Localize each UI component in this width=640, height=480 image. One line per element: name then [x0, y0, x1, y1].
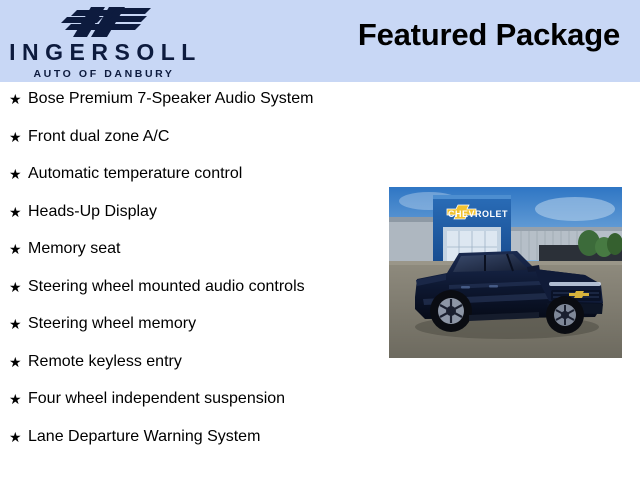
dealer-logo: INGERSOLL AUTO OF DANBURY	[0, 4, 205, 80]
svg-text:CHEVROLET: CHEVROLET	[448, 209, 508, 219]
star-bullet-icon: ★	[9, 126, 28, 148]
star-bullet-icon: ★	[9, 426, 28, 448]
vehicle-photo-image: CHEVROLET	[389, 187, 622, 358]
list-item: ★ Automatic temperature control	[9, 163, 379, 185]
star-bullet-icon: ★	[9, 88, 28, 110]
list-item: ★ Bose Premium 7-Speaker Audio System	[9, 88, 379, 110]
list-item: ★ Front dual zone A/C	[9, 126, 379, 148]
star-bullet-icon: ★	[9, 238, 28, 260]
dealer-name: INGERSOLL	[3, 41, 202, 64]
feature-label: Remote keyless entry	[28, 351, 182, 373]
list-item: ★ Lane Departure Warning System	[9, 426, 379, 448]
star-bullet-icon: ★	[9, 388, 28, 410]
feature-label: Steering wheel mounted audio controls	[28, 276, 305, 298]
star-bullet-icon: ★	[9, 201, 28, 223]
feature-label: Automatic temperature control	[28, 163, 242, 185]
feature-list: ★ Bose Premium 7-Speaker Audio System ★ …	[9, 88, 379, 463]
feature-label: Front dual zone A/C	[28, 126, 169, 148]
feature-label: Steering wheel memory	[28, 313, 196, 335]
ingersoll-wing-emblem-icon	[47, 4, 159, 40]
feature-label: Memory seat	[28, 238, 120, 260]
feature-label: Four wheel independent suspension	[28, 388, 285, 410]
star-bullet-icon: ★	[9, 276, 28, 298]
star-bullet-icon: ★	[9, 163, 28, 185]
star-bullet-icon: ★	[9, 313, 28, 335]
vehicle-photo: CHEVROLET	[389, 187, 622, 358]
page-title: Featured Package	[358, 17, 620, 53]
list-item: ★ Steering wheel mounted audio controls	[9, 276, 379, 298]
star-bullet-icon: ★	[9, 351, 28, 373]
list-item: ★ Memory seat	[9, 238, 379, 260]
list-item: ★ Heads-Up Display	[9, 201, 379, 223]
list-item: ★ Four wheel independent suspension	[9, 388, 379, 410]
feature-label: Heads-Up Display	[28, 201, 157, 223]
page-header: INGERSOLL AUTO OF DANBURY Featured Packa…	[0, 0, 640, 82]
dealer-tagline: AUTO OF DANBURY	[30, 69, 174, 80]
feature-label: Bose Premium 7-Speaker Audio System	[28, 88, 313, 110]
list-item: ★ Remote keyless entry	[9, 351, 379, 373]
feature-label: Lane Departure Warning System	[28, 426, 260, 448]
list-item: ★ Steering wheel memory	[9, 313, 379, 335]
